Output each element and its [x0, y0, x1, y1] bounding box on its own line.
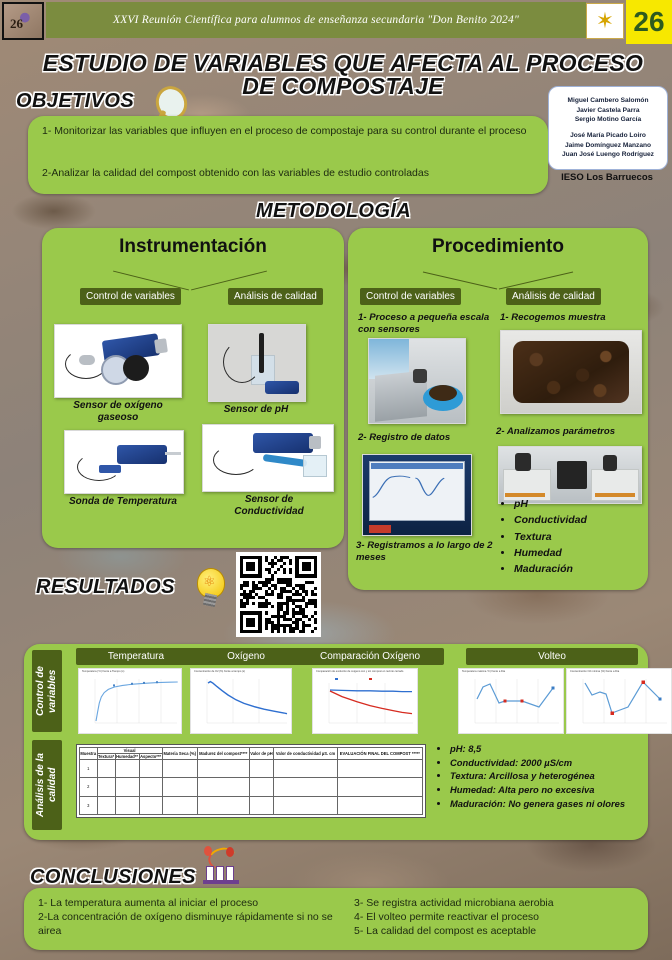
authors-group-1: Miguel Cambero Salomón Javier Castela Pa…	[566, 96, 651, 125]
author-name: Javier Castela Parra	[568, 106, 649, 116]
results-row-label-analisis: Análisis de la calidad	[32, 740, 62, 830]
chart-header-oxigeno: Oxígeno	[188, 648, 304, 665]
ph-sensor-photo	[208, 324, 306, 402]
result-item: pH: 8,5	[450, 742, 644, 756]
th-humedad: Humedad**	[115, 754, 139, 760]
top-bar: 26 XXVI Reunión Científica para alumnos …	[0, 0, 672, 42]
result-item: Maduración: No genera gases ni olores	[450, 797, 644, 811]
table-header-row-1: Muestra Visual Materia Seca (%) Madurez …	[80, 748, 423, 754]
section-title-objetivos: OBJETIVOS	[16, 90, 134, 113]
parameter-item: Textura	[514, 529, 648, 545]
chemistry-flasks-icon	[200, 846, 242, 886]
procedimiento-subhead-analisis: Análisis de calidad	[506, 288, 601, 305]
result-item: Conductividad: 2000 µS/cm	[450, 756, 644, 770]
procedimiento-step-1: 1- Proceso a pequeña escala con sensores	[358, 312, 494, 336]
parameter-item: Conductividad	[514, 512, 648, 528]
qr-code[interactable]	[236, 552, 321, 637]
procedimiento-step-2: 2- Registro de datos	[358, 432, 498, 444]
objetivo-item-1: 1- Monitorizar las variables que influye…	[42, 124, 534, 138]
star-emblem-icon: ✶	[586, 3, 624, 39]
objetivos-panel: 1- Monitorizar las variables que influye…	[28, 116, 548, 194]
chart-temperatura: Temperatura (ºC) frente a Tiempo (s)	[78, 668, 182, 734]
logo-text: 26	[10, 16, 23, 32]
conductivity-sensor-caption: Sensor de Conductividad	[214, 494, 324, 517]
parameter-item: Humedad	[514, 545, 648, 561]
procedimiento-step-3: 3- Registramos a lo largo de 2 meses	[356, 540, 496, 564]
chart-volteo-temperatura: Temperatura máxima ºC) frente a Día	[458, 668, 564, 734]
instrumentacion-panel: Instrumentación Control de variables Aná…	[42, 228, 344, 548]
cell-muestra: 3	[80, 796, 98, 814]
temperature-probe-caption: Sonda de Temperatura	[50, 496, 196, 508]
result-item: Humedad: Alta pero no excesiva	[450, 783, 644, 797]
edition-number-badge: 26	[626, 0, 672, 44]
conductivity-sensor-photo	[202, 424, 334, 492]
th-ph: Valor de pH	[249, 748, 274, 760]
congress-logo-icon: 26	[2, 2, 44, 40]
cell-muestra: 1	[80, 760, 98, 778]
th-textura: Textura*	[97, 754, 115, 760]
conclusiones-left-column: 1- La temperatura aumenta al iniciar el …	[38, 896, 338, 939]
chart-volteo-oxigeno: Concentración O2 mínima (%) frente a Día	[566, 668, 672, 734]
table-row: 1	[80, 760, 423, 778]
authors-box: Miguel Cambero Salomón Javier Castela Pa…	[548, 86, 668, 170]
congress-title: XXVI Reunión Científica para alumnos de …	[46, 2, 586, 38]
conclusiones-panel: 1- La temperatura aumenta al iniciar el …	[24, 888, 648, 950]
th-conductividad: Valor de conductividad µS. cm	[274, 748, 337, 760]
chart-header-comparacion: Comparación Oxígeno	[296, 648, 444, 665]
author-name: Miguel Cambero Salomón	[568, 96, 649, 106]
results-row-label-control: Control de variables	[32, 650, 62, 732]
quality-results-list: pH: 8,5 Conductividad: 2000 µS/cm Textur…	[438, 742, 644, 810]
th-muestra: Muestra	[80, 748, 98, 760]
lightbulb-icon: ⚛	[193, 568, 227, 608]
parameter-item: pH	[514, 496, 648, 512]
chart-header-temperatura: Temperatura	[76, 648, 196, 665]
conclusion-item: 2-La concentración de oxígeno disminuye …	[38, 910, 338, 938]
compost-sample-photo	[500, 330, 642, 414]
conclusiones-right-column: 3- Se registra actividad microbiana aero…	[354, 896, 644, 939]
author-name: Juan José Luengo Rodríguez	[562, 150, 654, 160]
procedimiento-panel: Procedimiento Control de variables Análi…	[348, 228, 648, 590]
author-name: Sergio Motino García	[568, 115, 649, 125]
procedimiento-parameters-list: pH Conductividad Textura Humedad Madurac…	[498, 496, 648, 577]
chart-header-volteo: Volteo	[466, 648, 638, 665]
procedimiento-step-r2: 2- Analizamos parámetros	[496, 426, 646, 438]
objetivo-item-2: 2-Analizar la calidad del compost obteni…	[42, 166, 534, 180]
th-materia-seca: Materia Seca (%)	[162, 748, 197, 760]
school-name: IESO Los Barruecos	[548, 172, 666, 183]
ph-sensor-caption: Sensor de pH	[208, 404, 304, 416]
section-title-metodologia: METODOLOGÍA	[256, 200, 411, 223]
oxygen-sensor-caption: Sensor de oxígeno gaseoso	[54, 400, 182, 423]
instrumentacion-subhead-analisis: Análisis de calidad	[228, 288, 323, 305]
procedimiento-subhead-control: Control de variables	[360, 288, 461, 305]
conclusion-item: 4- El volteo permite reactivar el proces…	[354, 910, 644, 924]
chart-oxigeno: Concentración de O2 (%) frente a tiempo …	[190, 668, 292, 734]
oxygen-sensor-photo	[54, 324, 182, 398]
th-evaluacion: EVALUACIÓN FINAL DEL COMPOST *****	[337, 748, 422, 760]
conclusion-item: 3- Se registra actividad microbiana aero…	[354, 896, 644, 910]
procedimiento-title: Procedimiento	[348, 236, 648, 258]
result-item: Textura: Arcillosa y heterogénea	[450, 769, 644, 783]
table-row: 3	[80, 796, 423, 814]
small-scale-process-photo	[368, 338, 466, 424]
data-logging-photo	[362, 454, 472, 536]
conclusion-item: 5- La calidad del compost es aceptable	[354, 924, 644, 938]
resultados-panel: Control de variables Análisis de la cali…	[24, 644, 648, 840]
authors-group-2: José María Picado Loiro Jaime Domínguez …	[560, 131, 656, 160]
quality-results-table: Muestra Visual Materia Seca (%) Madurez …	[76, 744, 426, 818]
author-name: Jaime Domínguez Manzano	[562, 141, 654, 151]
th-madurez: Madurez del compost****	[197, 748, 249, 760]
parameter-item: Maduración	[514, 561, 648, 577]
congress-title-banner: XXVI Reunión Científica para alumnos de …	[46, 2, 586, 38]
table-row: 2	[80, 778, 423, 796]
instrumentacion-subhead-control: Control de variables	[80, 288, 181, 305]
th-aspecto: Aspecto***	[139, 754, 162, 760]
cell-muestra: 2	[80, 778, 98, 796]
poster-canvas: 26 XXVI Reunión Científica para alumnos …	[0, 0, 672, 960]
instrumentacion-title: Instrumentación	[42, 236, 344, 258]
section-title-resultados: RESULTADOS	[36, 576, 175, 599]
author-name: José María Picado Loiro	[562, 131, 654, 141]
conclusion-item: 1- La temperatura aumenta al iniciar el …	[38, 896, 338, 910]
temperature-probe-photo	[64, 430, 184, 494]
chart-comparacion-oxigeno: Comparación de evolución de oxígeno con …	[312, 668, 418, 734]
section-title-conclusiones: CONCLUSIONES	[30, 866, 196, 889]
procedimiento-step-r1: 1- Recogemos muestra	[500, 312, 640, 324]
